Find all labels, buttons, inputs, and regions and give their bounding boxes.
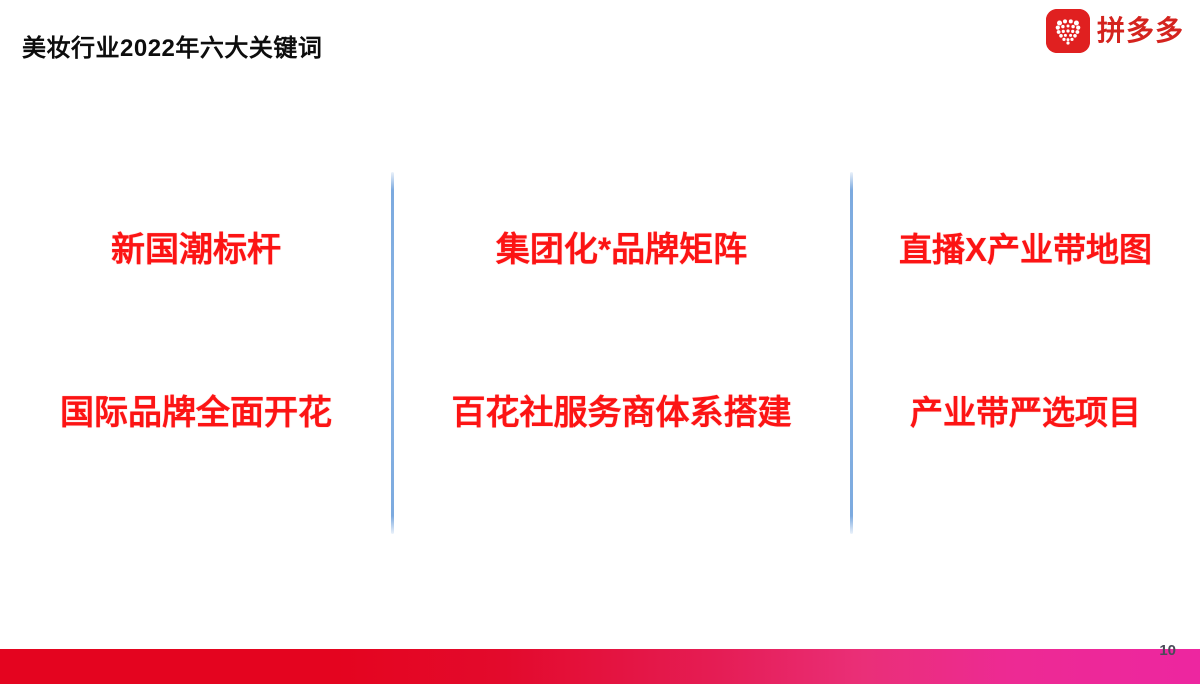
column-divider: [850, 172, 853, 534]
column-divider: [391, 172, 394, 534]
keyword-item: 百花社服务商体系搭建: [392, 395, 851, 432]
keyword-item: 集团化*品牌矩阵: [392, 232, 851, 269]
keyword-column-3: 直播X产业带地图 产业带严选项目: [851, 160, 1200, 550]
footer-gradient-bar: [0, 649, 1200, 684]
keyword-column-2: 集团化*品牌矩阵 百花社服务商体系搭建: [392, 160, 851, 550]
keyword-item: 产业带严选项目: [851, 395, 1200, 431]
keyword-column-1: 新国潮标杆 国际品牌全面开花: [0, 160, 392, 550]
pinduoduo-heart-icon: [1046, 9, 1090, 53]
keyword-item: 直播X产业带地图: [851, 232, 1200, 268]
page-title: 美妆行业2022年六大关键词: [22, 28, 322, 63]
slide-canvas: 美妆行业2022年六大关键词: [0, 0, 1200, 684]
keyword-grid: 新国潮标杆 国际品牌全面开花 集团化*品牌矩阵 百花社服务商体系搭建 直播X产业…: [0, 160, 1200, 550]
page-number: 10: [1159, 643, 1176, 658]
keyword-item: 新国潮标杆: [0, 232, 392, 269]
keyword-item: 国际品牌全面开花: [0, 395, 392, 432]
brand-wordmark: 拼多多: [1097, 17, 1184, 45]
brand-logo: 拼多多: [1046, 9, 1184, 53]
